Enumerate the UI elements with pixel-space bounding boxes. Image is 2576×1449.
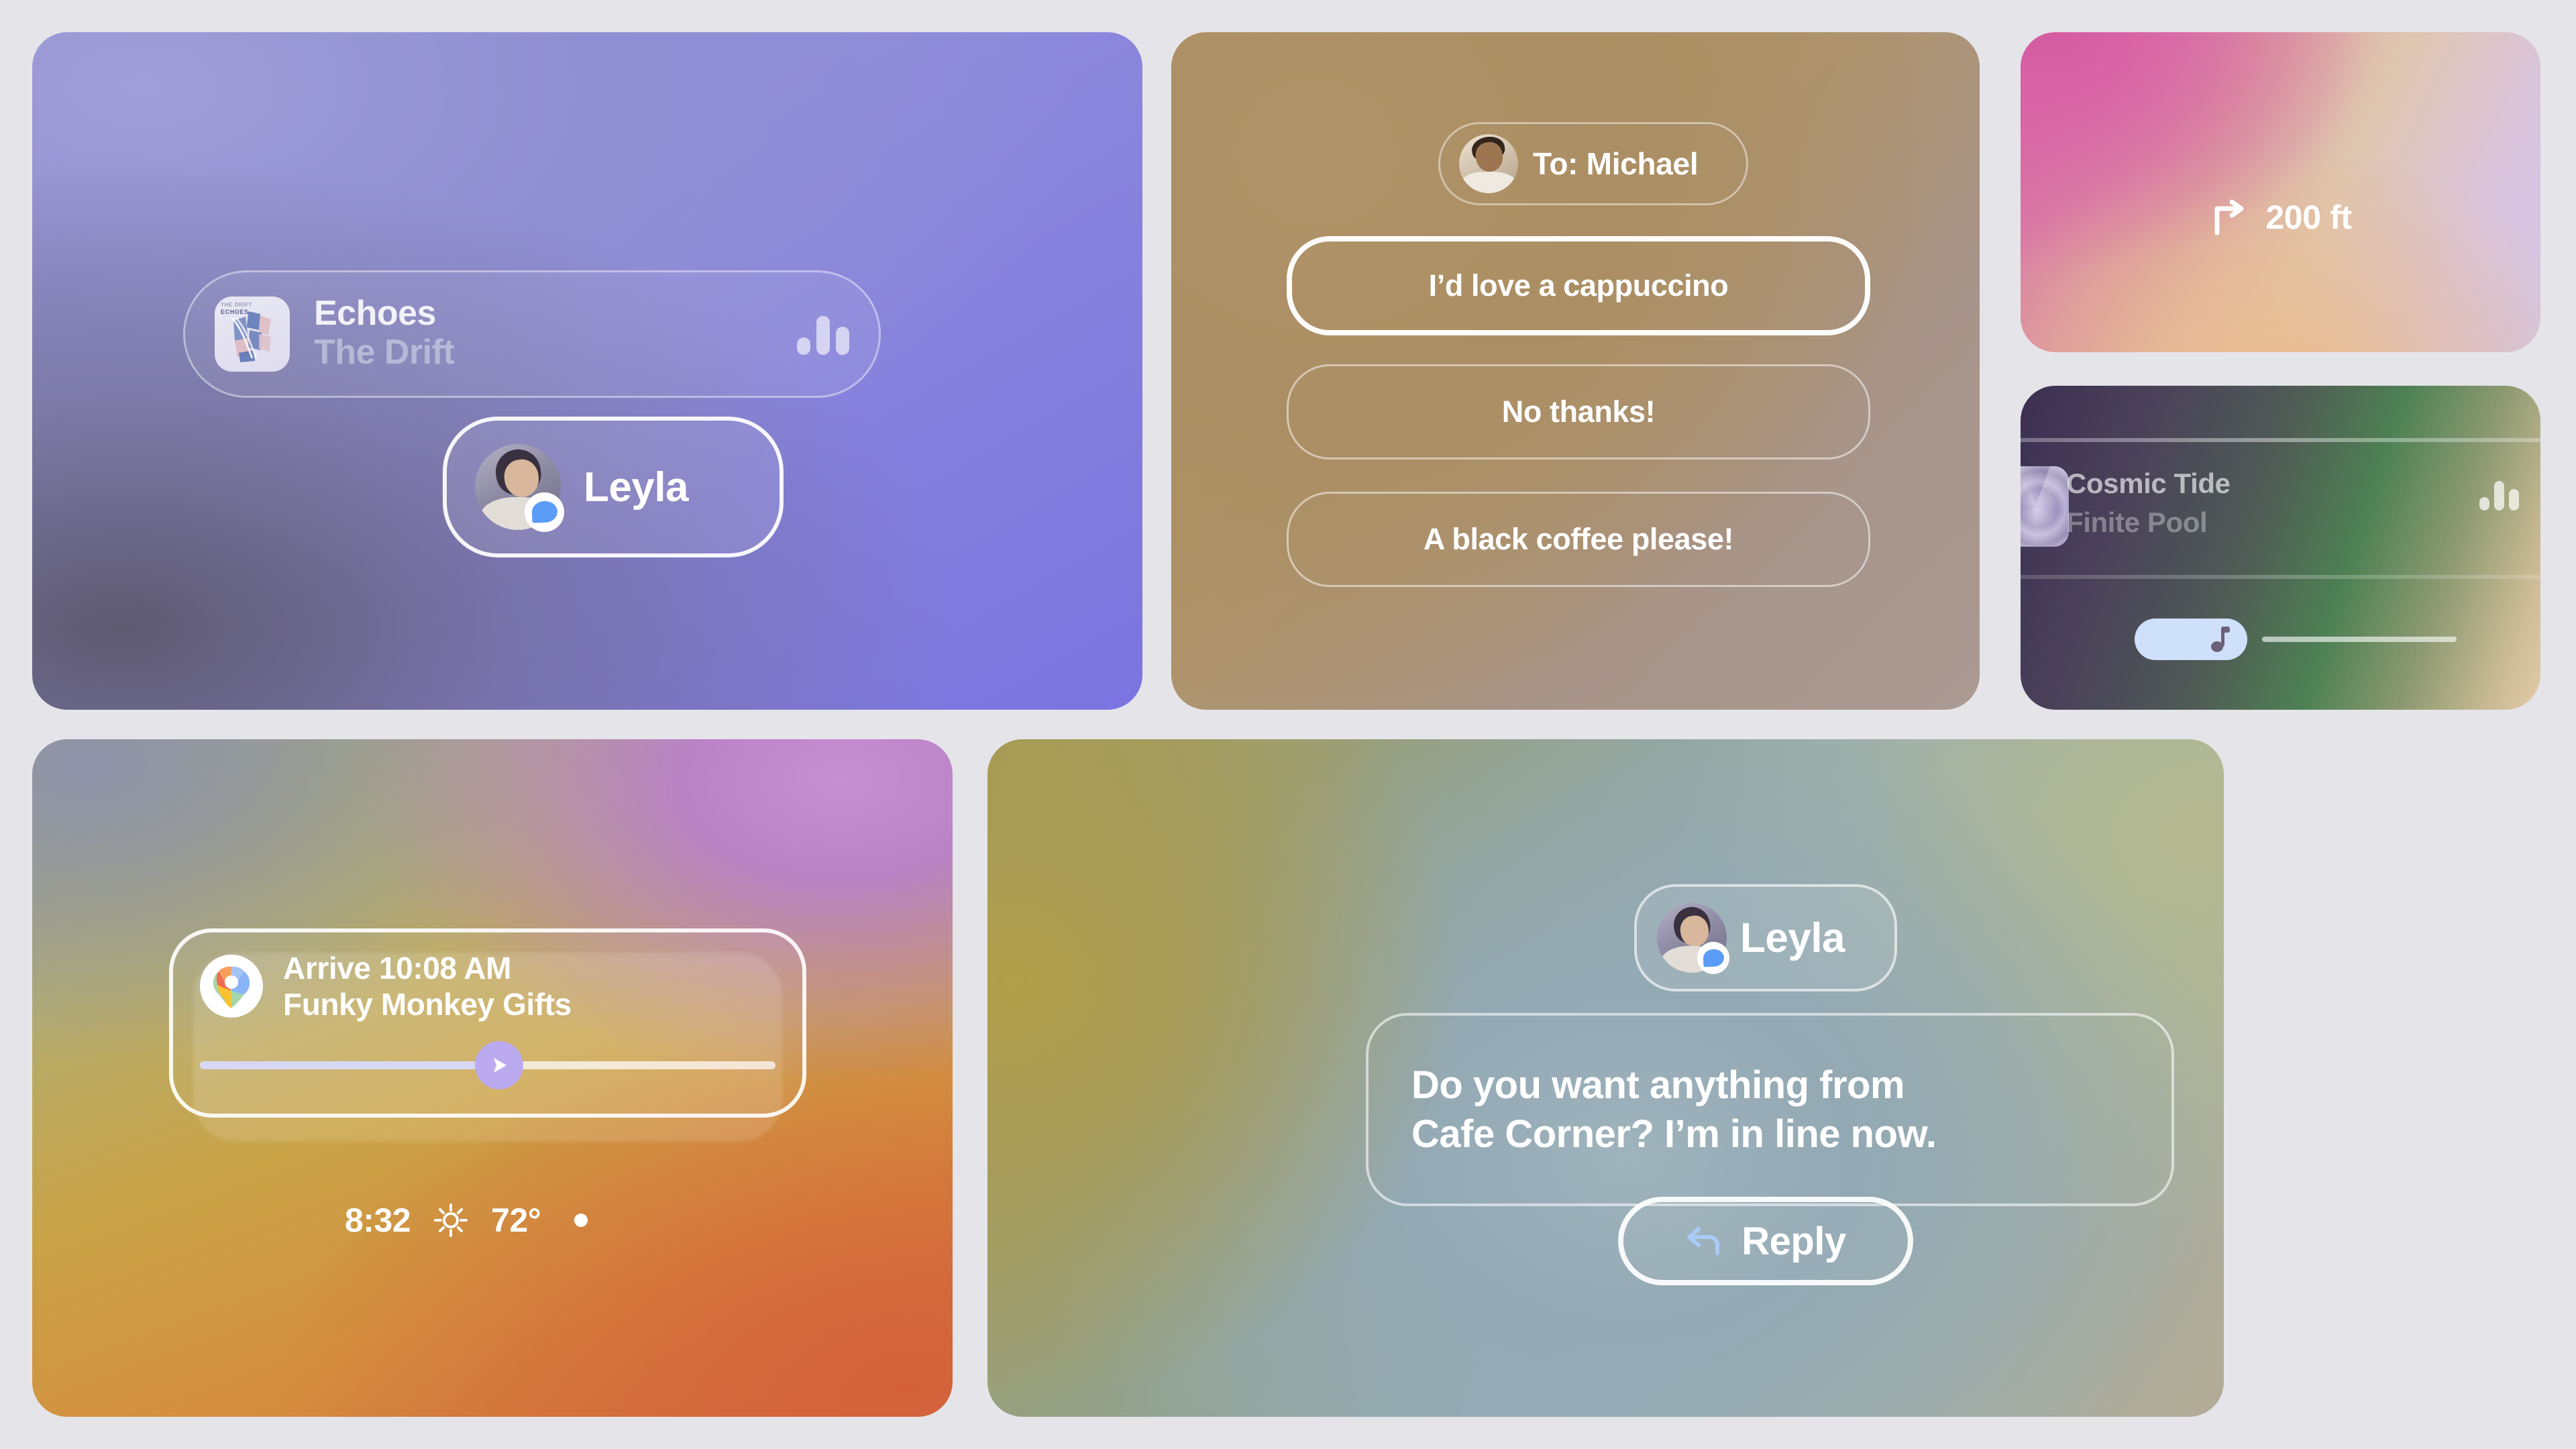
smart-reply-option-1[interactable]: I’d love a cappuccino — [1287, 236, 1870, 335]
navigation-distance: 200 ft — [2265, 198, 2351, 237]
messages-bubble-icon — [1697, 942, 1729, 974]
maps-destination: Funky Monkey Gifts — [283, 986, 572, 1022]
now-playing-pill[interactable]: THE DRIFT ECHOES Echoes The Drift — [183, 270, 881, 398]
recipient-label: To: Michael — [1533, 146, 1698, 182]
music-note-icon — [2208, 624, 2233, 655]
smart-reply-option-2[interactable]: No thanks! — [1287, 364, 1870, 460]
track-info: Echoes The Drift — [314, 295, 797, 373]
track-title: Echoes — [314, 295, 797, 332]
status-dot-icon — [574, 1214, 588, 1227]
widget-dashboard: THE DRIFT ECHOES Echoes The Drift — [0, 0, 2576, 1449]
music-toggle-pill[interactable] — [2135, 619, 2247, 660]
navigation-arrow-icon — [486, 1053, 512, 1078]
maps-eta-line: Arrive 10:08 AM — [283, 950, 572, 986]
maps-eta-row: Arrive 10:08 AM Funky Monkey Gifts — [200, 950, 572, 1023]
status-temperature: 72° — [491, 1201, 541, 1240]
maps-eta-text: Arrive 10:08 AM Funky Monkey Gifts — [283, 950, 572, 1023]
sun-icon — [433, 1203, 468, 1238]
avatar-leyla — [475, 444, 561, 530]
maps-eta-pill[interactable]: Arrive 10:08 AM Funky Monkey Gifts — [169, 928, 806, 1118]
smart-reply-option-3[interactable]: A black coffee please! — [1287, 492, 1870, 587]
contact-name: Leyla — [584, 464, 688, 511]
reply-arrow-icon — [1685, 1222, 1723, 1260]
reply-button[interactable]: Reply — [1618, 1197, 1913, 1285]
maps-progress-thumb[interactable] — [475, 1041, 523, 1089]
avatar-michael — [1459, 134, 1518, 193]
equalizer-icon — [2479, 480, 2519, 511]
album-art-swirl — [2021, 466, 2069, 547]
divider-top — [2021, 438, 2540, 442]
divider-bottom — [2021, 575, 2540, 579]
status-row: 8:32 72° — [169, 1201, 806, 1240]
maps-progress-track[interactable] — [200, 1061, 775, 1069]
turn-right-icon — [2209, 197, 2251, 238]
recipient-chip-michael[interactable]: To: Michael — [1438, 122, 1748, 205]
message-sender-name: Leyla — [1740, 914, 1845, 962]
messages-bubble-icon — [525, 492, 564, 532]
message-sender-chip[interactable]: Leyla — [1634, 884, 1897, 991]
cosmic-track-artist: Finite Pool — [2066, 506, 2207, 539]
contact-chip-leyla[interactable]: Leyla — [443, 417, 784, 557]
playback-track[interactable] — [2262, 637, 2457, 642]
equalizer-icon — [797, 313, 849, 355]
cosmic-track-title: Cosmic Tide — [2066, 468, 2231, 500]
message-body-line2: Cafe Corner? I’m in line now. — [1411, 1110, 1937, 1159]
music-now-playing-card[interactable]: THE DRIFT ECHOES Echoes The Drift — [32, 32, 1142, 710]
message-body: Do you want anything from Cafe Corner? I… — [1411, 1061, 1937, 1159]
avatar-leyla — [1657, 903, 1727, 973]
status-time: 8:32 — [345, 1201, 411, 1240]
album-art-shapes-icon — [215, 297, 290, 372]
maps-progress-fill — [200, 1061, 499, 1069]
music-cosmic-card[interactable]: Cosmic Tide Finite Pool — [2021, 386, 2540, 710]
message-body-line1: Do you want anything from — [1411, 1061, 1937, 1110]
message-bubble[interactable]: Do you want anything from Cafe Corner? I… — [1366, 1013, 2174, 1206]
reply-button-label: Reply — [1741, 1219, 1845, 1264]
google-maps-pin-icon — [200, 955, 263, 1018]
navigation-maneuver: 200 ft — [2021, 197, 2540, 238]
track-artist: The Drift — [314, 333, 797, 373]
album-art-echoes: THE DRIFT ECHOES — [215, 297, 290, 372]
navigation-card[interactable]: 200 ft — [2021, 32, 2540, 352]
